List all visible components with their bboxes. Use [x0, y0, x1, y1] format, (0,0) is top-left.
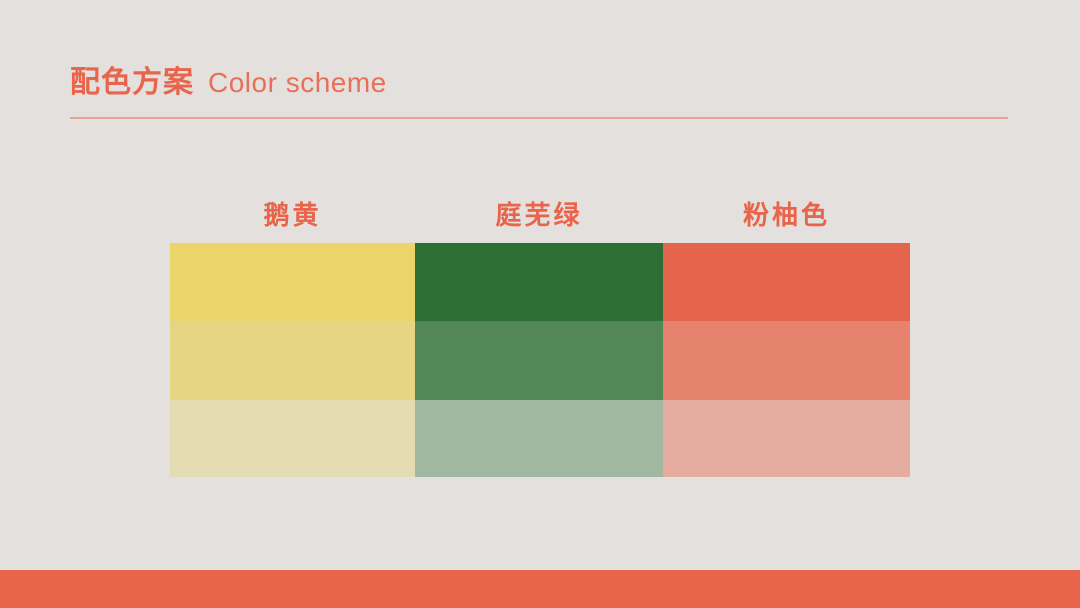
swatch-yellow-1	[170, 243, 415, 321]
swatch-pink-1	[663, 243, 910, 321]
slide-header: 配色方案 Color scheme	[70, 68, 1010, 120]
swatch-pink-3	[663, 400, 910, 477]
page-title-cn: 配色方案	[70, 68, 194, 98]
swatch-column-pink	[663, 243, 910, 477]
footer-accent-bar	[0, 570, 1080, 608]
header-divider	[70, 117, 1008, 119]
color-palette: 鹅黄 庭芜绿 粉柚色	[170, 186, 910, 477]
palette-label-green: 庭芜绿	[415, 202, 663, 228]
swatch-yellow-3	[170, 400, 415, 477]
header-title-group: 配色方案 Color scheme	[70, 68, 1010, 112]
swatch-green-2	[415, 321, 663, 400]
slide-canvas: 配色方案 Color scheme 鹅黄 庭芜绿 粉柚色	[0, 0, 1080, 608]
swatch-green-3	[415, 400, 663, 477]
swatch-grid	[170, 243, 910, 477]
palette-label-row: 鹅黄 庭芜绿 粉柚色	[170, 186, 910, 243]
swatch-column-green	[415, 243, 663, 477]
swatch-column-yellow	[170, 243, 415, 477]
swatch-pink-2	[663, 321, 910, 400]
swatch-green-1	[415, 243, 663, 321]
swatch-yellow-2	[170, 321, 415, 400]
palette-label-yellow: 鹅黄	[170, 202, 415, 228]
palette-label-pink: 粉柚色	[663, 202, 910, 228]
page-title-en: Color scheme	[208, 69, 387, 97]
